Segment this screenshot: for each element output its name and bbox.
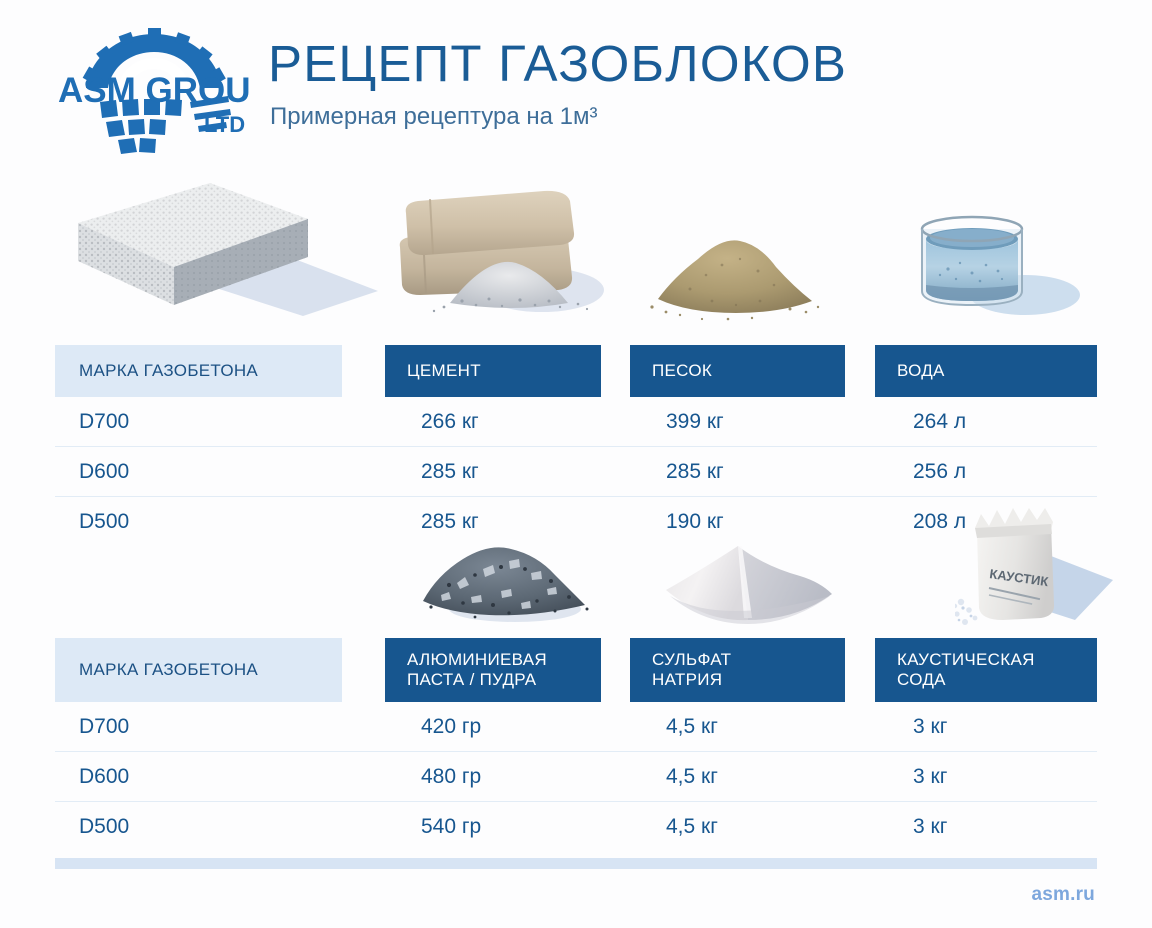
cell-mark: D500	[79, 802, 129, 851]
table2-header-sulfate-line1: СУЛЬФАТ	[652, 650, 731, 669]
table1-header-mark: МАРКА ГАЗОБЕТОНА	[55, 345, 342, 397]
table-additives: МАРКА ГАЗОБЕТОНА АЛЮМИНИЕВАЯ ПАСТА / ПУД…	[55, 638, 1097, 851]
page-subtitle: Примерная рецептура на 1м³	[270, 105, 847, 129]
illustration-strip-bottom: КАУСТИК	[0, 492, 1152, 642]
caustic-soda-bag-image: КАУСТИК	[955, 496, 1120, 636]
title-block: РЕЦЕПТ ГАЗОБЛОКОВ Примерная рецептура на…	[268, 38, 847, 129]
infographic-page: ASM GROUP LTD РЕЦЕПТ ГАЗОБЛОКОВ Примерна…	[0, 0, 1152, 928]
cell-caustic: 3 кг	[913, 802, 947, 851]
cell-aluminum: 480 гр	[421, 752, 481, 801]
table2-header-aluminum-line1: АЛЮМИНИЕВАЯ	[407, 650, 547, 669]
sand-pile-image	[640, 215, 830, 330]
cement-bags-image	[392, 185, 607, 330]
aerated-concrete-block-image	[60, 175, 390, 330]
table1-header-row: МАРКА ГАЗОБЕТОНА ЦЕМЕНТ ПЕСОК ВОДА	[55, 345, 1097, 397]
aluminum-paste-flakes-image	[405, 525, 600, 630]
table2-header-caustic: КАУСТИЧЕСКАЯ СОДА	[875, 638, 1097, 702]
logo-wordmark: ASM GROUP	[58, 71, 250, 110]
asm-group-logo: ASM GROUP LTD	[58, 26, 250, 158]
table1-header-water: ВОДА	[875, 345, 1097, 397]
sodium-sulfate-powder-image	[660, 532, 840, 632]
cell-aluminum: 540 гр	[421, 802, 481, 851]
cell-cement: 266 кг	[421, 397, 479, 446]
cell-caustic: 3 кг	[913, 702, 947, 751]
cell-mark: D600	[79, 447, 129, 496]
gear-globe-logo-icon: ASM GROUP LTD	[58, 26, 250, 158]
table2-header-aluminum: АЛЮМИНИЕВАЯ ПАСТА / ПУДРА	[385, 638, 601, 702]
table2-header-sulfate: СУЛЬФАТ НАТРИЯ	[630, 638, 845, 702]
table2-header-mark: МАРКА ГАЗОБЕТОНА	[55, 638, 342, 702]
cell-water: 256 л	[913, 447, 966, 496]
table1-header-cement: ЦЕМЕНТ	[385, 345, 601, 397]
illustration-strip-top	[0, 165, 1152, 345]
table2-header-aluminum-line2: ПАСТА / ПУДРА	[407, 670, 536, 689]
footer-website: asm.ru	[1031, 884, 1095, 906]
cell-aluminum: 420 гр	[421, 702, 481, 751]
table-row: D600 285 кг 285 кг 256 л	[55, 447, 1097, 497]
cell-sand: 285 кг	[666, 447, 724, 496]
table2-header-row: МАРКА ГАЗОБЕТОНА АЛЮМИНИЕВАЯ ПАСТА / ПУД…	[55, 638, 1097, 702]
table2-header-caustic-line2: СОДА	[897, 670, 946, 689]
footer-divider	[55, 858, 1097, 869]
cell-water: 264 л	[913, 397, 966, 446]
table-row: D600 480 гр 4,5 кг 3 кг	[55, 752, 1097, 802]
cell-mark: D700	[79, 397, 129, 446]
cell-mark: D600	[79, 752, 129, 801]
water-glass-image	[900, 193, 1085, 333]
cell-mark: D700	[79, 702, 129, 751]
cell-caustic: 3 кг	[913, 752, 947, 801]
cell-cement: 285 кг	[421, 447, 479, 496]
table-row: D500 540 гр 4,5 кг 3 кг	[55, 802, 1097, 851]
logo-sub-wordmark: LTD	[204, 112, 245, 137]
table-row: D700 266 кг 399 кг 264 л	[55, 397, 1097, 447]
cell-sulfate: 4,5 кг	[666, 802, 718, 851]
table2-body: D700 420 гр 4,5 кг 3 кг D600 480 гр 4,5 …	[55, 702, 1097, 851]
cell-sand: 399 кг	[666, 397, 724, 446]
page-title: РЕЦЕПТ ГАЗОБЛОКОВ	[268, 38, 847, 89]
table2-header-sulfate-line2: НАТРИЯ	[652, 670, 722, 689]
cell-sulfate: 4,5 кг	[666, 702, 718, 751]
table-row: D700 420 гр 4,5 кг 3 кг	[55, 702, 1097, 752]
table1-header-sand: ПЕСОК	[630, 345, 845, 397]
cell-sulfate: 4,5 кг	[666, 752, 718, 801]
header: ASM GROUP LTD РЕЦЕПТ ГАЗОБЛОКОВ Примерна…	[0, 0, 1152, 172]
table2-header-caustic-line1: КАУСТИЧЕСКАЯ	[897, 650, 1035, 669]
